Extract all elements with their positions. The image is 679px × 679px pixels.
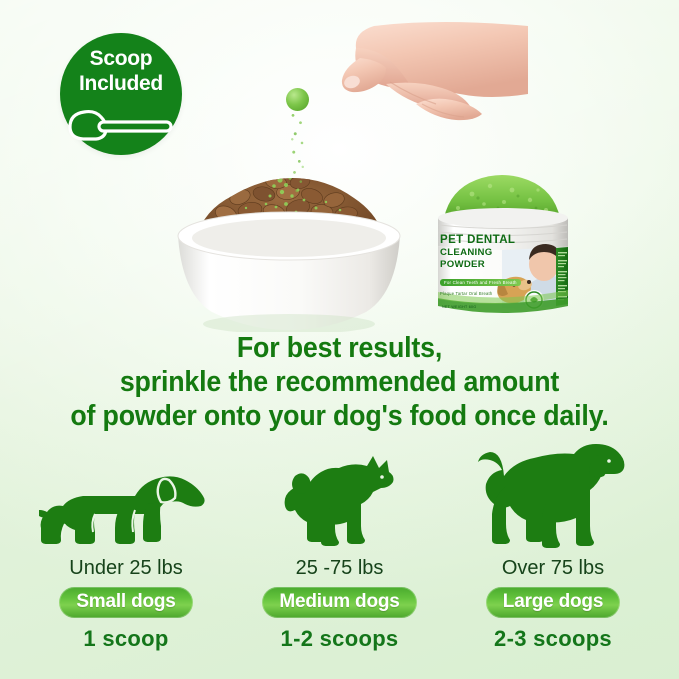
powder-sprinkle: [276, 88, 322, 198]
scoops-large: 2-3 scoops: [494, 626, 612, 652]
weight-range-medium: 25 -75 lbs: [296, 557, 384, 580]
weight-range-large: Over 75 lbs: [502, 557, 604, 580]
jar-net-weight: NET WEIGHT 60G: [442, 305, 476, 309]
badge-line-1: Scoop: [90, 46, 153, 71]
headline-line-2: sprinkle the recommended amount: [20, 365, 658, 399]
medium-dog-shiba-silhouette: [277, 448, 402, 548]
measuring-scoop-icon: [66, 103, 176, 147]
scoop-included-badge: Scoop Included: [60, 33, 182, 155]
instruction-headline: For best results, sprinkle the recommend…: [20, 331, 658, 433]
scoops-medium: 1-2 scoops: [281, 626, 399, 652]
scoops-small: 1 scoop: [83, 626, 168, 652]
dosage-chart: Under 25 lbs Small dogs 1 scoop 25 -75 l…: [0, 448, 679, 653]
large-dog-labrador-silhouette: [478, 448, 628, 548]
size-label-small: Small dogs: [59, 587, 192, 618]
weight-range-small: Under 25 lbs: [69, 557, 182, 580]
product-jar: PET DENTAL CLEANING POWDER For Clean Tee…: [428, 172, 578, 327]
headline-line-3: of powder onto your dog's food once dail…: [20, 399, 658, 433]
powder-falling-stream: [290, 108, 305, 200]
badge-line-2: Included: [79, 71, 163, 96]
dosage-column-medium: 25 -75 lbs Medium dogs 1-2 scoops: [240, 448, 440, 653]
size-label-large: Large dogs: [486, 587, 620, 618]
small-dog-dachshund-silhouette: [39, 448, 214, 548]
headline-line-1: For best results,: [20, 331, 658, 365]
product-infographic: Scoop Included: [0, 0, 679, 679]
hand-sprinkling-icon: [330, 22, 530, 157]
dosage-column-large: Over 75 lbs Large dogs 2-3 scoops: [453, 448, 653, 653]
dosage-column-small: Under 25 lbs Small dogs 1 scoop: [26, 448, 226, 653]
size-label-medium: Medium dogs: [262, 587, 416, 618]
